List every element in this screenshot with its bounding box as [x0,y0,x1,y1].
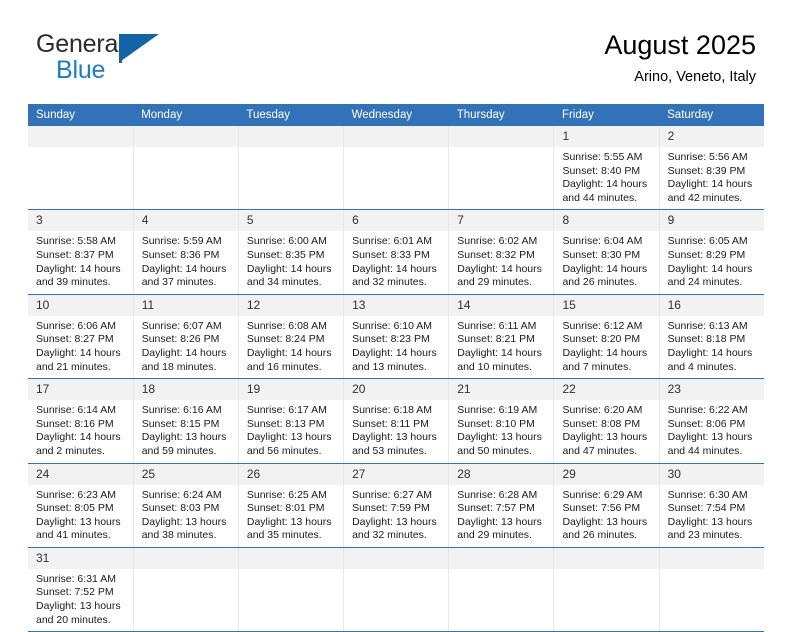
day-number [134,126,238,147]
daylight-text-line1: Daylight: 14 hours [562,178,652,192]
daylight-text-line2: and 50 minutes. [457,445,547,459]
sunrise-text: Sunrise: 6:02 AM [457,235,547,249]
calendar-week-row: 1Sunrise: 5:55 AMSunset: 8:40 PMDaylight… [28,126,764,210]
daylight-text-line1: Daylight: 14 hours [36,347,127,361]
day-number: 14 [449,295,553,316]
sunrise-text: Sunrise: 6:14 AM [36,404,127,418]
weekday-header-saturday: Saturday [659,104,764,126]
sunset-text: Sunset: 8:36 PM [142,249,232,263]
sunset-text: Sunset: 8:29 PM [668,249,759,263]
day-number [344,126,448,147]
daylight-text-line2: and 44 minutes. [562,192,652,206]
daylight-text-line2: and 38 minutes. [142,529,232,543]
day-number: 22 [554,379,658,400]
day-sun-info: Sunrise: 6:02 AMSunset: 8:32 PMDaylight:… [449,231,553,293]
calendar-day-cell[interactable]: 2Sunrise: 5:56 AMSunset: 8:39 PMDaylight… [659,126,764,210]
day-number [239,126,343,147]
day-number: 31 [28,548,133,569]
sunrise-text: Sunrise: 6:10 AM [352,320,442,334]
day-number: 5 [239,210,343,231]
day-number: 11 [134,295,238,316]
calendar-cell-empty [659,547,764,631]
daylight-text-line1: Daylight: 14 hours [457,263,547,277]
day-sun-info: Sunrise: 6:30 AMSunset: 7:54 PMDaylight:… [660,485,765,547]
daylight-text-line1: Daylight: 14 hours [668,178,759,192]
day-number [660,548,765,569]
daylight-text-line2: and 29 minutes. [457,276,547,290]
daylight-text-line1: Daylight: 14 hours [36,263,127,277]
calendar-day-cell[interactable]: 22Sunrise: 6:20 AMSunset: 8:08 PMDayligh… [554,379,659,463]
sunset-text: Sunset: 7:52 PM [36,586,127,600]
sunset-text: Sunset: 7:57 PM [457,502,547,516]
day-sun-info: Sunrise: 6:20 AMSunset: 8:08 PMDaylight:… [554,400,658,462]
daylight-text-line2: and 26 minutes. [562,276,652,290]
calendar-cell-empty [344,126,449,210]
day-number: 19 [239,379,343,400]
daylight-text-line1: Daylight: 14 hours [247,263,337,277]
daylight-text-line1: Daylight: 13 hours [352,516,442,530]
sunrise-text: Sunrise: 6:05 AM [668,235,759,249]
sunset-text: Sunset: 8:37 PM [36,249,127,263]
day-sun-info: Sunrise: 6:19 AMSunset: 8:10 PMDaylight:… [449,400,553,462]
sunset-text: Sunset: 8:03 PM [142,502,232,516]
weekday-header-friday: Friday [554,104,659,126]
sunrise-text: Sunrise: 6:22 AM [668,404,759,418]
calendar-day-cell[interactable]: 8Sunrise: 6:04 AMSunset: 8:30 PMDaylight… [554,210,659,294]
daylight-text-line2: and 42 minutes. [668,192,759,206]
day-number: 1 [554,126,658,147]
sunset-text: Sunset: 8:10 PM [457,418,547,432]
day-sun-info: Sunrise: 6:01 AMSunset: 8:33 PMDaylight:… [344,231,448,293]
day-number: 24 [28,464,133,485]
daylight-text-line2: and 2 minutes. [36,445,127,459]
daylight-text-line2: and 20 minutes. [36,614,127,628]
day-number: 3 [28,210,133,231]
day-sun-info: Sunrise: 6:17 AMSunset: 8:13 PMDaylight:… [239,400,343,462]
sunrise-text: Sunrise: 5:55 AM [562,151,652,165]
calendar-cell-empty [554,547,659,631]
day-sun-info: Sunrise: 6:24 AMSunset: 8:03 PMDaylight:… [134,485,238,547]
daylight-text-line2: and 44 minutes. [668,445,759,459]
daylight-text-line1: Daylight: 13 hours [668,516,759,530]
calendar-day-cell[interactable]: 29Sunrise: 6:29 AMSunset: 7:56 PMDayligh… [554,463,659,547]
calendar-day-cell[interactable]: 13Sunrise: 6:10 AMSunset: 8:23 PMDayligh… [344,294,449,378]
calendar-week-row: 17Sunrise: 6:14 AMSunset: 8:16 PMDayligh… [28,379,764,463]
weekday-header-wednesday: Wednesday [344,104,449,126]
calendar-day-cell[interactable]: 15Sunrise: 6:12 AMSunset: 8:20 PMDayligh… [554,294,659,378]
daylight-text-line2: and 21 minutes. [36,361,127,375]
sunset-text: Sunset: 8:13 PM [247,418,337,432]
calendar-day-cell[interactable]: 28Sunrise: 6:28 AMSunset: 7:57 PMDayligh… [449,463,554,547]
day-number: 13 [344,295,448,316]
day-number: 23 [660,379,765,400]
daylight-text-line1: Daylight: 14 hours [668,263,759,277]
sunset-text: Sunset: 8:06 PM [668,418,759,432]
day-number [344,548,448,569]
sunrise-text: Sunrise: 6:20 AM [562,404,652,418]
weekday-header-row: Sunday Monday Tuesday Wednesday Thursday… [28,104,764,126]
calendar-cell-empty [133,547,238,631]
sunset-text: Sunset: 8:35 PM [247,249,337,263]
calendar-cell-empty [28,126,133,210]
calendar-day-cell[interactable]: 23Sunrise: 6:22 AMSunset: 8:06 PMDayligh… [659,379,764,463]
sunset-text: Sunset: 7:59 PM [352,502,442,516]
daylight-text-line2: and 47 minutes. [562,445,652,459]
sunrise-text: Sunrise: 6:01 AM [352,235,442,249]
sunrise-text: Sunrise: 6:23 AM [36,489,127,503]
day-number [449,126,553,147]
triangle-icon [121,34,159,61]
day-sun-info: Sunrise: 6:28 AMSunset: 7:57 PMDaylight:… [449,485,553,547]
brand-logo[interactable]: General Blue [36,30,216,88]
day-sun-info: Sunrise: 6:11 AMSunset: 8:21 PMDaylight:… [449,316,553,378]
sunset-text: Sunset: 8:21 PM [457,333,547,347]
daylight-text-line1: Daylight: 13 hours [142,431,232,445]
sunset-text: Sunset: 8:05 PM [36,502,127,516]
daylight-text-line1: Daylight: 13 hours [36,516,127,530]
sunset-text: Sunset: 8:27 PM [36,333,127,347]
sunrise-text: Sunrise: 5:56 AM [668,151,759,165]
sunrise-text: Sunrise: 6:06 AM [36,320,127,334]
day-number: 12 [239,295,343,316]
day-sun-info: Sunrise: 6:00 AMSunset: 8:35 PMDaylight:… [239,231,343,293]
daylight-text-line2: and 13 minutes. [352,361,442,375]
day-number: 15 [554,295,658,316]
sunset-text: Sunset: 8:11 PM [352,418,442,432]
calendar-cell-empty [449,126,554,210]
day-number: 10 [28,295,133,316]
daylight-text-line2: and 26 minutes. [562,529,652,543]
day-sun-info: Sunrise: 5:58 AMSunset: 8:37 PMDaylight:… [28,231,133,293]
sunrise-text: Sunrise: 6:12 AM [562,320,652,334]
weekday-header-monday: Monday [133,104,238,126]
sunrise-text: Sunrise: 6:25 AM [247,489,337,503]
sunrise-text: Sunrise: 6:16 AM [142,404,232,418]
calendar-day-cell[interactable]: 11Sunrise: 6:07 AMSunset: 8:26 PMDayligh… [133,294,238,378]
day-number [449,548,553,569]
calendar-body: 1Sunrise: 5:55 AMSunset: 8:40 PMDaylight… [28,126,764,632]
day-sun-info: Sunrise: 5:56 AMSunset: 8:39 PMDaylight:… [660,147,765,209]
daylight-text-line2: and 53 minutes. [352,445,442,459]
calendar-day-cell[interactable]: 17Sunrise: 6:14 AMSunset: 8:16 PMDayligh… [28,379,133,463]
daylight-text-line1: Daylight: 14 hours [352,347,442,361]
sunset-text: Sunset: 8:01 PM [247,502,337,516]
sunset-text: Sunset: 8:33 PM [352,249,442,263]
calendar-cell-empty [449,547,554,631]
day-sun-info: Sunrise: 6:06 AMSunset: 8:27 PMDaylight:… [28,316,133,378]
calendar-week-row: 24Sunrise: 6:23 AMSunset: 8:05 PMDayligh… [28,463,764,547]
daylight-text-line1: Daylight: 13 hours [457,431,547,445]
calendar-page: General Blue August 2025 Arino, Veneto, … [0,0,792,612]
day-number: 18 [134,379,238,400]
sunrise-text: Sunrise: 6:27 AM [352,489,442,503]
calendar-day-cell[interactable]: 3Sunrise: 5:58 AMSunset: 8:37 PMDaylight… [28,210,133,294]
brand-name-blue: Blue [56,56,105,85]
calendar-day-cell[interactable]: 5Sunrise: 6:00 AMSunset: 8:35 PMDaylight… [238,210,343,294]
sunrise-text: Sunrise: 6:18 AM [352,404,442,418]
day-number: 16 [660,295,765,316]
calendar-day-cell[interactable]: 25Sunrise: 6:24 AMSunset: 8:03 PMDayligh… [133,463,238,547]
day-sun-info: Sunrise: 6:23 AMSunset: 8:05 PMDaylight:… [28,485,133,547]
sunrise-text: Sunrise: 6:30 AM [668,489,759,503]
day-number: 7 [449,210,553,231]
daylight-text-line2: and 32 minutes. [352,529,442,543]
sunrise-text: Sunrise: 5:59 AM [142,235,232,249]
calendar-day-cell[interactable]: 26Sunrise: 6:25 AMSunset: 8:01 PMDayligh… [238,463,343,547]
day-number: 6 [344,210,448,231]
day-number: 4 [134,210,238,231]
daylight-text-line2: and 34 minutes. [247,276,337,290]
daylight-text-line2: and 24 minutes. [668,276,759,290]
sunset-text: Sunset: 8:23 PM [352,333,442,347]
calendar-day-cell[interactable]: 20Sunrise: 6:18 AMSunset: 8:11 PMDayligh… [344,379,449,463]
day-number: 8 [554,210,658,231]
sunrise-text: Sunrise: 6:08 AM [247,320,337,334]
sunrise-text: Sunrise: 6:28 AM [457,489,547,503]
daylight-text-line1: Daylight: 14 hours [36,431,127,445]
calendar-cell-empty [344,547,449,631]
day-sun-info: Sunrise: 6:25 AMSunset: 8:01 PMDaylight:… [239,485,343,547]
day-number: 30 [660,464,765,485]
calendar-week-row: 3Sunrise: 5:58 AMSunset: 8:37 PMDaylight… [28,210,764,294]
sunset-text: Sunset: 8:30 PM [562,249,652,263]
sunset-text: Sunset: 7:56 PM [562,502,652,516]
calendar-day-cell[interactable]: 9Sunrise: 6:05 AMSunset: 8:29 PMDaylight… [659,210,764,294]
calendar-day-cell[interactable]: 1Sunrise: 5:55 AMSunset: 8:40 PMDaylight… [554,126,659,210]
title-block: August 2025 Arino, Veneto, Italy [604,28,756,88]
calendar-table: Sunday Monday Tuesday Wednesday Thursday… [28,104,764,632]
day-number: 17 [28,379,133,400]
sunrise-text: Sunrise: 5:58 AM [36,235,127,249]
location-subtitle: Arino, Veneto, Italy [604,66,756,88]
daylight-text-line1: Daylight: 14 hours [668,347,759,361]
calendar-day-cell[interactable]: 30Sunrise: 6:30 AMSunset: 7:54 PMDayligh… [659,463,764,547]
daylight-text-line2: and 10 minutes. [457,361,547,375]
sunrise-text: Sunrise: 6:24 AM [142,489,232,503]
daylight-text-line1: Daylight: 13 hours [247,516,337,530]
daylight-text-line2: and 7 minutes. [562,361,652,375]
sunset-text: Sunset: 8:15 PM [142,418,232,432]
day-sun-info: Sunrise: 6:16 AMSunset: 8:15 PMDaylight:… [134,400,238,462]
sunrise-text: Sunrise: 6:04 AM [562,235,652,249]
day-number [134,548,238,569]
sunrise-text: Sunrise: 6:31 AM [36,573,127,587]
day-sun-info: Sunrise: 6:07 AMSunset: 8:26 PMDaylight:… [134,316,238,378]
day-number: 21 [449,379,553,400]
calendar-cell-empty [238,126,343,210]
day-number [239,548,343,569]
day-number: 20 [344,379,448,400]
sunrise-text: Sunrise: 6:13 AM [668,320,759,334]
calendar-day-cell[interactable]: 7Sunrise: 6:02 AMSunset: 8:32 PMDaylight… [449,210,554,294]
day-number: 9 [660,210,765,231]
page-header: General Blue August 2025 Arino, Veneto, … [0,0,792,104]
day-number [28,126,133,147]
sunset-text: Sunset: 8:16 PM [36,418,127,432]
daylight-text-line1: Daylight: 14 hours [562,263,652,277]
day-sun-info: Sunrise: 6:29 AMSunset: 7:56 PMDaylight:… [554,485,658,547]
sunrise-text: Sunrise: 6:19 AM [457,404,547,418]
calendar-day-cell[interactable]: 10Sunrise: 6:06 AMSunset: 8:27 PMDayligh… [28,294,133,378]
day-number: 2 [660,126,765,147]
weekday-header-thursday: Thursday [449,104,554,126]
day-number [554,548,658,569]
daylight-text-line1: Daylight: 13 hours [352,431,442,445]
daylight-text-line2: and 59 minutes. [142,445,232,459]
daylight-text-line2: and 32 minutes. [352,276,442,290]
day-number: 26 [239,464,343,485]
calendar-day-cell[interactable]: 6Sunrise: 6:01 AMSunset: 8:33 PMDaylight… [344,210,449,294]
calendar-cell-empty [238,547,343,631]
daylight-text-line1: Daylight: 13 hours [562,431,652,445]
day-sun-info: Sunrise: 5:59 AMSunset: 8:36 PMDaylight:… [134,231,238,293]
daylight-text-line1: Daylight: 14 hours [352,263,442,277]
daylight-text-line1: Daylight: 13 hours [142,516,232,530]
day-sun-info: Sunrise: 6:31 AMSunset: 7:52 PMDaylight:… [28,569,133,631]
sunrise-text: Sunrise: 6:29 AM [562,489,652,503]
daylight-text-line2: and 4 minutes. [668,361,759,375]
day-sun-info: Sunrise: 6:14 AMSunset: 8:16 PMDaylight:… [28,400,133,462]
daylight-text-line1: Daylight: 13 hours [457,516,547,530]
brand-name-general: General [36,30,124,59]
daylight-text-line1: Daylight: 14 hours [457,347,547,361]
daylight-text-line1: Daylight: 13 hours [247,431,337,445]
day-sun-info: Sunrise: 6:18 AMSunset: 8:11 PMDaylight:… [344,400,448,462]
day-sun-info: Sunrise: 6:27 AMSunset: 7:59 PMDaylight:… [344,485,448,547]
calendar-day-cell[interactable]: 4Sunrise: 5:59 AMSunset: 8:36 PMDaylight… [133,210,238,294]
sunrise-text: Sunrise: 6:07 AM [142,320,232,334]
day-sun-info: Sunrise: 6:13 AMSunset: 8:18 PMDaylight:… [660,316,765,378]
calendar-day-cell[interactable]: 18Sunrise: 6:16 AMSunset: 8:15 PMDayligh… [133,379,238,463]
daylight-text-line1: Daylight: 14 hours [247,347,337,361]
sunset-text: Sunset: 8:24 PM [247,333,337,347]
weekday-header-tuesday: Tuesday [238,104,343,126]
sunrise-text: Sunrise: 6:17 AM [247,404,337,418]
page-title: August 2025 [604,28,756,62]
sunrise-text: Sunrise: 6:00 AM [247,235,337,249]
calendar-week-row: 10Sunrise: 6:06 AMSunset: 8:27 PMDayligh… [28,294,764,378]
sunset-text: Sunset: 8:32 PM [457,249,547,263]
daylight-text-line2: and 16 minutes. [247,361,337,375]
sunset-text: Sunset: 7:54 PM [668,502,759,516]
day-sun-info: Sunrise: 6:22 AMSunset: 8:06 PMDaylight:… [660,400,765,462]
daylight-text-line2: and 39 minutes. [36,276,127,290]
day-sun-info: Sunrise: 6:05 AMSunset: 8:29 PMDaylight:… [660,231,765,293]
sunset-text: Sunset: 8:39 PM [668,165,759,179]
daylight-text-line1: Daylight: 13 hours [562,516,652,530]
sunset-text: Sunset: 8:40 PM [562,165,652,179]
calendar-day-cell[interactable]: 27Sunrise: 6:27 AMSunset: 7:59 PMDayligh… [344,463,449,547]
calendar-day-cell[interactable]: 16Sunrise: 6:13 AMSunset: 8:18 PMDayligh… [659,294,764,378]
day-number: 28 [449,464,553,485]
day-number: 27 [344,464,448,485]
daylight-text-line2: and 56 minutes. [247,445,337,459]
daylight-text-line1: Daylight: 14 hours [562,347,652,361]
calendar-day-cell[interactable]: 19Sunrise: 6:17 AMSunset: 8:13 PMDayligh… [238,379,343,463]
calendar-day-cell[interactable]: 24Sunrise: 6:23 AMSunset: 8:05 PMDayligh… [28,463,133,547]
calendar-day-cell[interactable]: 31Sunrise: 6:31 AMSunset: 7:52 PMDayligh… [28,547,133,631]
day-sun-info: Sunrise: 6:08 AMSunset: 8:24 PMDaylight:… [239,316,343,378]
calendar-day-cell[interactable]: 14Sunrise: 6:11 AMSunset: 8:21 PMDayligh… [449,294,554,378]
daylight-text-line2: and 23 minutes. [668,529,759,543]
daylight-text-line2: and 29 minutes. [457,529,547,543]
sunset-text: Sunset: 8:08 PM [562,418,652,432]
daylight-text-line1: Daylight: 14 hours [142,347,232,361]
day-sun-info: Sunrise: 5:55 AMSunset: 8:40 PMDaylight:… [554,147,658,209]
calendar-day-cell[interactable]: 12Sunrise: 6:08 AMSunset: 8:24 PMDayligh… [238,294,343,378]
daylight-text-line2: and 37 minutes. [142,276,232,290]
day-sun-info: Sunrise: 6:10 AMSunset: 8:23 PMDaylight:… [344,316,448,378]
weekday-header-sunday: Sunday [28,104,133,126]
calendar-week-row: 31Sunrise: 6:31 AMSunset: 7:52 PMDayligh… [28,547,764,631]
calendar-day-cell[interactable]: 21Sunrise: 6:19 AMSunset: 8:10 PMDayligh… [449,379,554,463]
sunset-text: Sunset: 8:26 PM [142,333,232,347]
day-number: 25 [134,464,238,485]
daylight-text-line2: and 41 minutes. [36,529,127,543]
daylight-text-line2: and 18 minutes. [142,361,232,375]
daylight-text-line1: Daylight: 13 hours [668,431,759,445]
sunset-text: Sunset: 8:20 PM [562,333,652,347]
daylight-text-line1: Daylight: 14 hours [142,263,232,277]
day-sun-info: Sunrise: 6:12 AMSunset: 8:20 PMDaylight:… [554,316,658,378]
calendar-cell-empty [133,126,238,210]
day-sun-info: Sunrise: 6:04 AMSunset: 8:30 PMDaylight:… [554,231,658,293]
day-number: 29 [554,464,658,485]
sunset-text: Sunset: 8:18 PM [668,333,759,347]
sunrise-text: Sunrise: 6:11 AM [457,320,547,334]
daylight-text-line2: and 35 minutes. [247,529,337,543]
